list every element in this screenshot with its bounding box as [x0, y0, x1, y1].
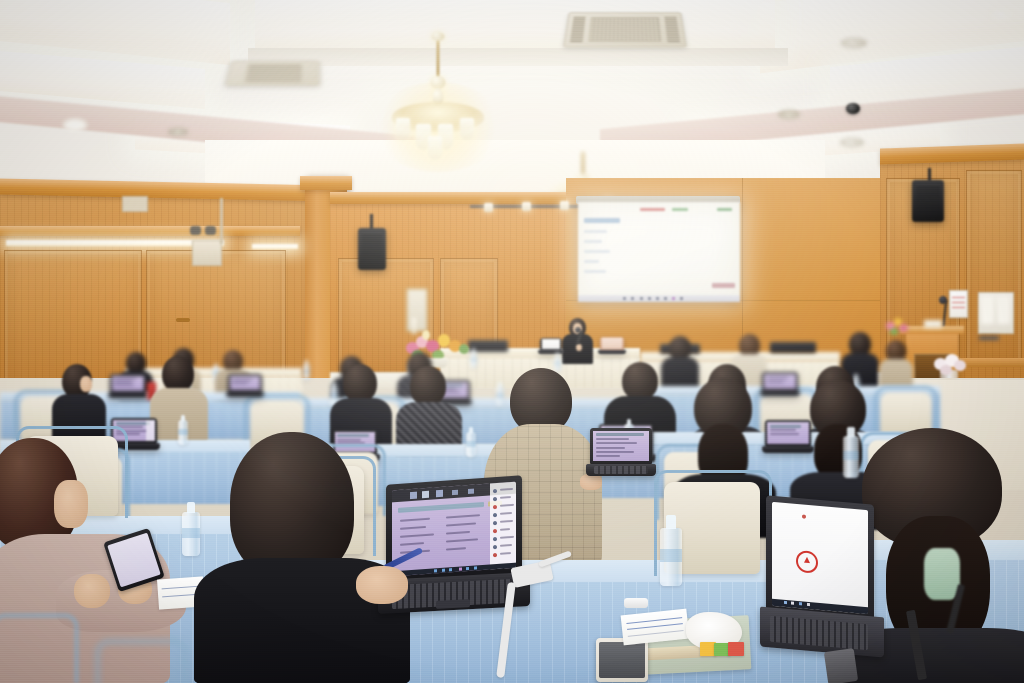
ceiling-cassette-air-conditioner [225, 61, 321, 86]
attendee-laptop[interactable] [108, 374, 148, 398]
attendee-head [162, 356, 194, 392]
slide-accent [640, 208, 666, 211]
toolbar-icon[interactable] [410, 492, 417, 499]
slide-row [584, 260, 599, 263]
recessed-downlight [986, 6, 1016, 22]
ceiling-speaker [168, 128, 188, 136]
slide-row [584, 250, 610, 253]
track-spotlight [484, 203, 493, 212]
mobile-phone[interactable] [596, 638, 648, 682]
earbud-case [624, 598, 648, 608]
foreground-laptop-right[interactable] [760, 500, 884, 660]
sidebar-panel[interactable] [490, 482, 516, 570]
slide-accent [672, 208, 688, 211]
attendee-hand [580, 474, 602, 490]
attendee-laptop[interactable] [586, 428, 656, 476]
ceiling-recess-shadow [248, 48, 788, 66]
sticky-note [728, 642, 744, 656]
ceiling-speaker [778, 110, 800, 119]
toolbar-icon[interactable] [436, 490, 443, 497]
water-bottle [843, 436, 859, 478]
candle [412, 318, 416, 334]
presenter-hand [576, 344, 582, 351]
equipment-case [770, 342, 816, 353]
pillar-capital [300, 176, 352, 190]
toolbar-icon[interactable] [468, 489, 474, 494]
smartphone-screen [107, 533, 161, 588]
microphone-head [575, 327, 581, 333]
crystal-chandelier [390, 36, 486, 156]
wall-mounted-loudspeaker [912, 180, 944, 222]
emergency-light [190, 226, 201, 235]
app-dot [802, 514, 806, 518]
attendee-hand [356, 566, 408, 604]
wall-mounted-loudspeaker [358, 228, 386, 270]
slide-row [584, 270, 605, 273]
cove-strip-light [252, 244, 298, 249]
attendee-collar [924, 548, 960, 600]
notice-board [406, 288, 428, 332]
notice-sheet [981, 296, 994, 324]
cornice-center [330, 192, 570, 204]
slide-row [584, 240, 602, 243]
projection-screen-surface [578, 202, 740, 302]
ceiling-recess-center [255, 0, 775, 52]
chair-frame [96, 640, 186, 683]
attendee-face [80, 376, 92, 392]
water-bottle [303, 364, 310, 380]
podium-paper [924, 320, 942, 328]
sticky-notes [700, 642, 744, 658]
slide-badge [712, 283, 735, 288]
wall-sign [949, 290, 968, 318]
cornice-left-lower [0, 226, 300, 236]
toolbar-icon[interactable] [422, 491, 429, 498]
water-bottle [470, 352, 477, 368]
wall-control-box [122, 196, 148, 212]
chair-frame [0, 614, 78, 683]
wall-ledge [960, 358, 1024, 367]
attendee-head [343, 364, 377, 402]
smoke-detector [841, 38, 867, 48]
attendee-head [622, 362, 658, 400]
podium-microphone [939, 296, 947, 304]
ceiling-cassette-air-conditioner [563, 12, 687, 47]
slide-row [584, 230, 607, 233]
presenter-laptop-right[interactable] [598, 337, 626, 354]
dome-security-camera [846, 103, 860, 114]
smoke-detector [840, 138, 864, 147]
toolbar-icon[interactable] [452, 490, 458, 495]
door-handle[interactable] [176, 318, 190, 322]
slide-accent [717, 208, 732, 211]
flower-arrangement [930, 352, 968, 376]
conduit [220, 198, 223, 244]
upload-icon[interactable] [796, 550, 818, 574]
track-spotlight [560, 201, 569, 210]
recessed-downlight [62, 118, 88, 132]
flower-arrangement [884, 316, 910, 336]
phone-screen [599, 642, 645, 679]
bag-strap [824, 648, 858, 683]
water-bottle [466, 432, 476, 457]
notice-sheet [997, 296, 1010, 324]
presenter-laptop-left[interactable] [538, 338, 564, 354]
emergency-light [205, 226, 216, 235]
conference-room-photo [0, 0, 1024, 683]
slide-taskbar [578, 295, 740, 302]
track-spotlight [522, 202, 531, 211]
water-bottle [660, 528, 682, 586]
notice-marker [979, 336, 999, 340]
attendee-laptop[interactable] [226, 374, 264, 397]
wall-control-box [192, 240, 222, 266]
attendee-face [54, 480, 88, 528]
slide-row [584, 218, 620, 223]
attendee-hand [74, 574, 110, 608]
attendee-head [230, 432, 354, 578]
attendee-head [410, 366, 446, 406]
projection-screen [578, 202, 740, 302]
